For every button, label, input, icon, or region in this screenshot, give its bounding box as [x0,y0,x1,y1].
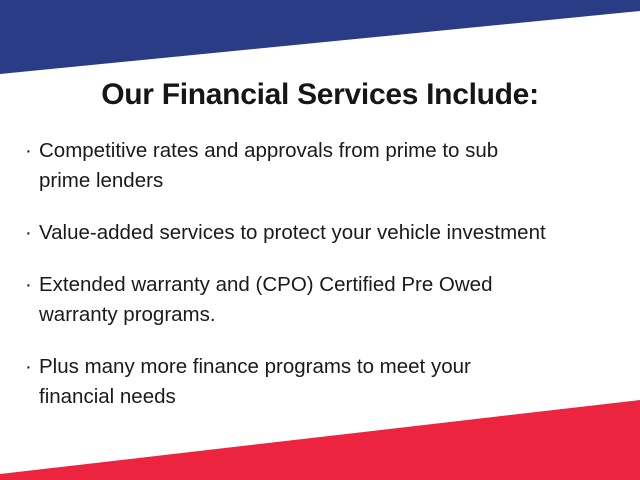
list-item: · Competitive rates and approvals from p… [24,136,624,196]
slide-content: Our Financial Services Include: · Compet… [0,0,640,480]
list-item: · Plus many more finance programs to mee… [24,352,624,412]
services-bullet-list: · Competitive rates and approvals from p… [24,136,624,412]
bullet-dot-icon: · [25,136,32,166]
list-item-line: warranty programs. [39,300,624,330]
bullet-dot-icon: · [25,352,32,382]
list-item-line: Plus many more finance programs to meet … [39,352,624,382]
list-item-text: Plus many more finance programs to meet … [39,352,624,412]
bullet-dot-icon: · [25,218,32,248]
list-item-line: Extended warranty and (CPO) Certified Pr… [39,270,624,300]
list-item-line: Value-added services to protect your veh… [39,218,624,248]
list-item-text: Extended warranty and (CPO) Certified Pr… [39,270,624,330]
slide-canvas: Our Financial Services Include: · Compet… [0,0,640,480]
page-title: Our Financial Services Include: [0,78,640,112]
list-item-text: Competitive rates and approvals from pri… [39,136,624,196]
bullet-dot-icon: · [25,270,32,300]
list-item-line: prime lenders [39,166,624,196]
list-item: · Value-added services to protect your v… [24,218,624,248]
list-item: · Extended warranty and (CPO) Certified … [24,270,624,330]
list-item-line: financial needs [39,382,624,412]
list-item-text: Value-added services to protect your veh… [39,218,624,248]
list-item-line: Competitive rates and approvals from pri… [39,136,624,166]
